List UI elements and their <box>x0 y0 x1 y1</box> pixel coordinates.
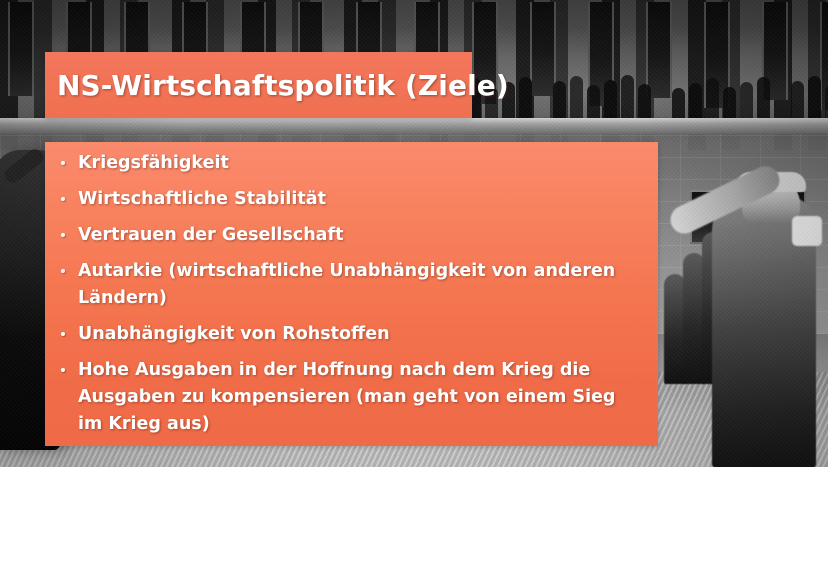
slide-content-box: Kriegsfähigkeit Wirtschaftliche Stabilit… <box>45 142 658 446</box>
bullet-list: Kriegsfähigkeit Wirtschaftliche Stabilit… <box>55 150 644 438</box>
list-item: Hohe Ausgaben in der Hoffnung nach dem K… <box>55 357 644 438</box>
list-item-label: Unabhängigkeit von Rohstoffen <box>78 324 390 344</box>
list-item: Wirtschaftliche Stabilität <box>55 186 644 213</box>
list-item-label: Vertrauen der Gesellschaft <box>78 225 343 245</box>
list-item: Kriegsfähigkeit <box>55 150 644 177</box>
bullet-dot-icon <box>61 161 65 165</box>
list-item: Unabhängigkeit von Rohstoffen <box>55 321 644 348</box>
page-white-area <box>0 467 828 573</box>
slide-title-box: NS-Wirtschaftspolitik (Ziele) <box>45 52 472 118</box>
page-title: NS-Wirtschaftspolitik (Ziele) <box>45 69 509 102</box>
list-item: Vertrauen der Gesellschaft <box>55 222 644 249</box>
bullet-dot-icon <box>61 233 65 237</box>
presentation-slide: NS-Wirtschaftspolitik (Ziele) Kriegsfähi… <box>0 0 828 573</box>
bullet-dot-icon <box>61 197 65 201</box>
list-item: Autarkie (wirtschaftliche Unabhängigkeit… <box>55 258 644 312</box>
list-item-label: Wirtschaftliche Stabilität <box>78 189 326 209</box>
list-item-label: Autarkie (wirtschaftliche Unabhängigkeit… <box>78 261 615 308</box>
list-item-label: Hohe Ausgaben in der Hoffnung nach dem K… <box>78 360 615 434</box>
list-item-label: Kriegsfähigkeit <box>78 153 229 173</box>
bullet-dot-icon <box>61 269 65 273</box>
bullet-dot-icon <box>61 332 65 336</box>
bullet-dot-icon <box>61 368 65 372</box>
